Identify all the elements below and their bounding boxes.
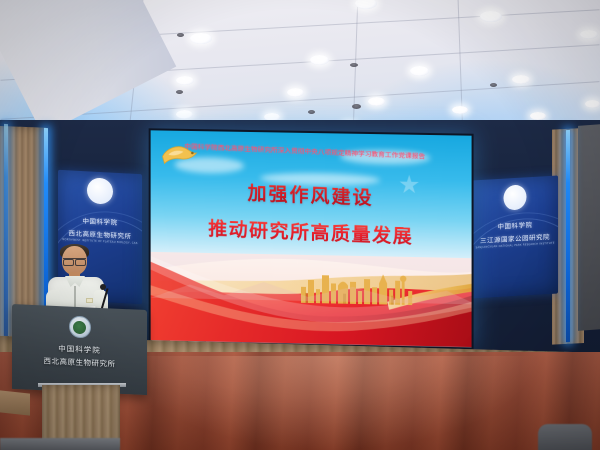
- ceiling-downlight: [580, 30, 598, 39]
- wall-sign-right: 中国科学院 三江源国家公园研究院 SANJIANGYUAN NATIONAL P…: [472, 175, 558, 298]
- ceiling-downlight: [410, 66, 429, 76]
- led-accent-strip-right: [566, 130, 570, 342]
- foreground-chair: [538, 424, 592, 450]
- ceiling-downlight: [190, 33, 212, 44]
- ceiling-downlight: [452, 106, 468, 114]
- led-presentation-screen: 中国科学院西北高原生物研究所深入贯彻中央八项规定精神学习教育工作党课报告 加强作…: [149, 128, 474, 349]
- ceiling-downlight: [310, 55, 329, 65]
- ceiling-downlight: [176, 76, 194, 85]
- eyeglasses-icon: [63, 258, 86, 263]
- ceiling-vent-sensor: [350, 63, 358, 67]
- ceiling-downlight: [512, 75, 530, 84]
- ceiling-vent-sensor: [490, 83, 497, 87]
- ceiling-downlight: [480, 11, 502, 22]
- ceiling-downlight: [355, 0, 377, 9]
- ceiling-vent-sensor: [177, 33, 184, 37]
- lectern-podium: 中国科学院 西北高原生物研究所: [12, 304, 147, 395]
- slide-title-group: 加强作风建设 推动研究所高质量发展: [151, 175, 472, 252]
- slide-ribbon-artwork: [151, 252, 472, 347]
- panel-disc-logo: [87, 177, 113, 204]
- ceiling-downlight: [368, 97, 385, 106]
- floor-light-reflection: [120, 356, 540, 450]
- ceiling-vent-sensor: [308, 110, 315, 114]
- ceiling-downlight: [530, 112, 546, 120]
- led-accent-strip-far-left: [4, 124, 8, 336]
- panel-disc-logo: [504, 184, 527, 210]
- floor-wooden-box: [0, 390, 30, 415]
- ceiling: [0, 0, 600, 140]
- ceiling-vent-sensor: [352, 104, 361, 109]
- ceiling-downlight: [585, 100, 600, 108]
- speaker-name-badge: [86, 298, 93, 303]
- emblem-inner: [73, 320, 86, 334]
- cas-institute-emblem: [69, 316, 91, 339]
- ceiling-downlight: [176, 110, 193, 119]
- wall-gray-panel-right: [578, 124, 600, 331]
- microphone-head-icon: [100, 284, 106, 290]
- ceiling-downlight: [287, 88, 304, 97]
- conference-hall-scene: 中国科学院 西北高原生物研究所 NORTHWEST INSTITUTE OF P…: [0, 0, 600, 450]
- ceiling-vent-sensor: [176, 90, 183, 94]
- foreground-bench: [0, 438, 120, 450]
